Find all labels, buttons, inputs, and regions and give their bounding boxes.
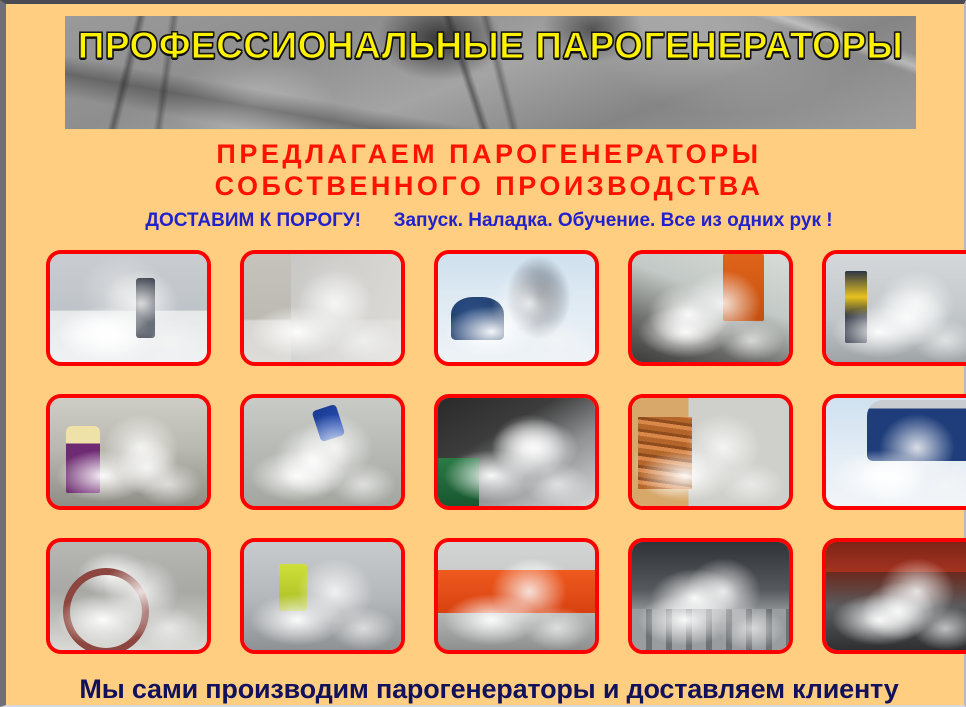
tile-photo-11 (50, 542, 207, 650)
gallery-tile[interactable] (434, 250, 599, 366)
tile-photo-7 (244, 398, 401, 506)
tile-photo-8 (438, 398, 595, 506)
gallery-tile[interactable] (434, 538, 599, 654)
gallery-tile[interactable] (46, 538, 211, 654)
gallery-tile[interactable] (240, 394, 405, 510)
gallery-tile[interactable] (822, 250, 966, 366)
tile-photo-1 (50, 254, 207, 362)
tile-photo-2 (244, 254, 401, 362)
subtitle-delivery: ДОСТАВИМ К ПОРОГУ! (145, 210, 361, 231)
photo-gallery (46, 250, 936, 654)
gallery-tile[interactable] (46, 250, 211, 366)
gallery-tile[interactable] (46, 394, 211, 510)
gallery-tile[interactable] (628, 538, 793, 654)
tile-photo-4 (632, 254, 789, 362)
tile-photo-3 (438, 254, 595, 362)
footer-text: Мы сами производим парогенераторы и дост… (6, 673, 966, 705)
poster-root: ПРОФЕССИОНАЛЬНЫЕ ПАРОГЕНЕРАТОРЫ ПРЕДЛАГА… (0, 0, 966, 707)
banner-title: ПРОФЕССИОНАЛЬНЫЕ ПАРОГЕНЕРАТОРЫ (78, 27, 904, 64)
tile-photo-5 (826, 254, 966, 362)
subtitle: ДОСТАВИМ К ПОРОГУ! Запуск. Наладка. Обуч… (6, 209, 966, 233)
headline-line-2: СОБСТВЕННОГО ПРОИЗВОДСТВА (6, 170, 966, 202)
tile-photo-15 (826, 542, 966, 650)
tile-photo-13 (438, 542, 595, 650)
tile-photo-6 (50, 398, 207, 506)
gallery-tile[interactable] (628, 394, 793, 510)
gallery-tile[interactable] (240, 538, 405, 654)
gallery-tile[interactable] (240, 250, 405, 366)
headline: ПРЕДЛАГАЕМ ПАРОГЕНЕРАТОРЫ СОБСТВЕННОГО П… (6, 138, 966, 202)
tile-photo-9 (632, 398, 789, 506)
tile-photo-14 (632, 542, 789, 650)
gallery-tile[interactable] (434, 394, 599, 510)
tile-photo-12 (244, 542, 401, 650)
gallery-tile[interactable] (628, 250, 793, 366)
header-banner-photo: ПРОФЕССИОНАЛЬНЫЕ ПАРОГЕНЕРАТОРЫ (65, 16, 916, 129)
subtitle-services: Запуск. Наладка. Обучение. Все из одних … (394, 210, 833, 231)
tile-photo-10 (826, 398, 966, 506)
headline-line-1: ПРЕДЛАГАЕМ ПАРОГЕНЕРАТОРЫ (216, 139, 761, 169)
gallery-tile[interactable] (822, 538, 966, 654)
gallery-tile[interactable] (822, 394, 966, 510)
